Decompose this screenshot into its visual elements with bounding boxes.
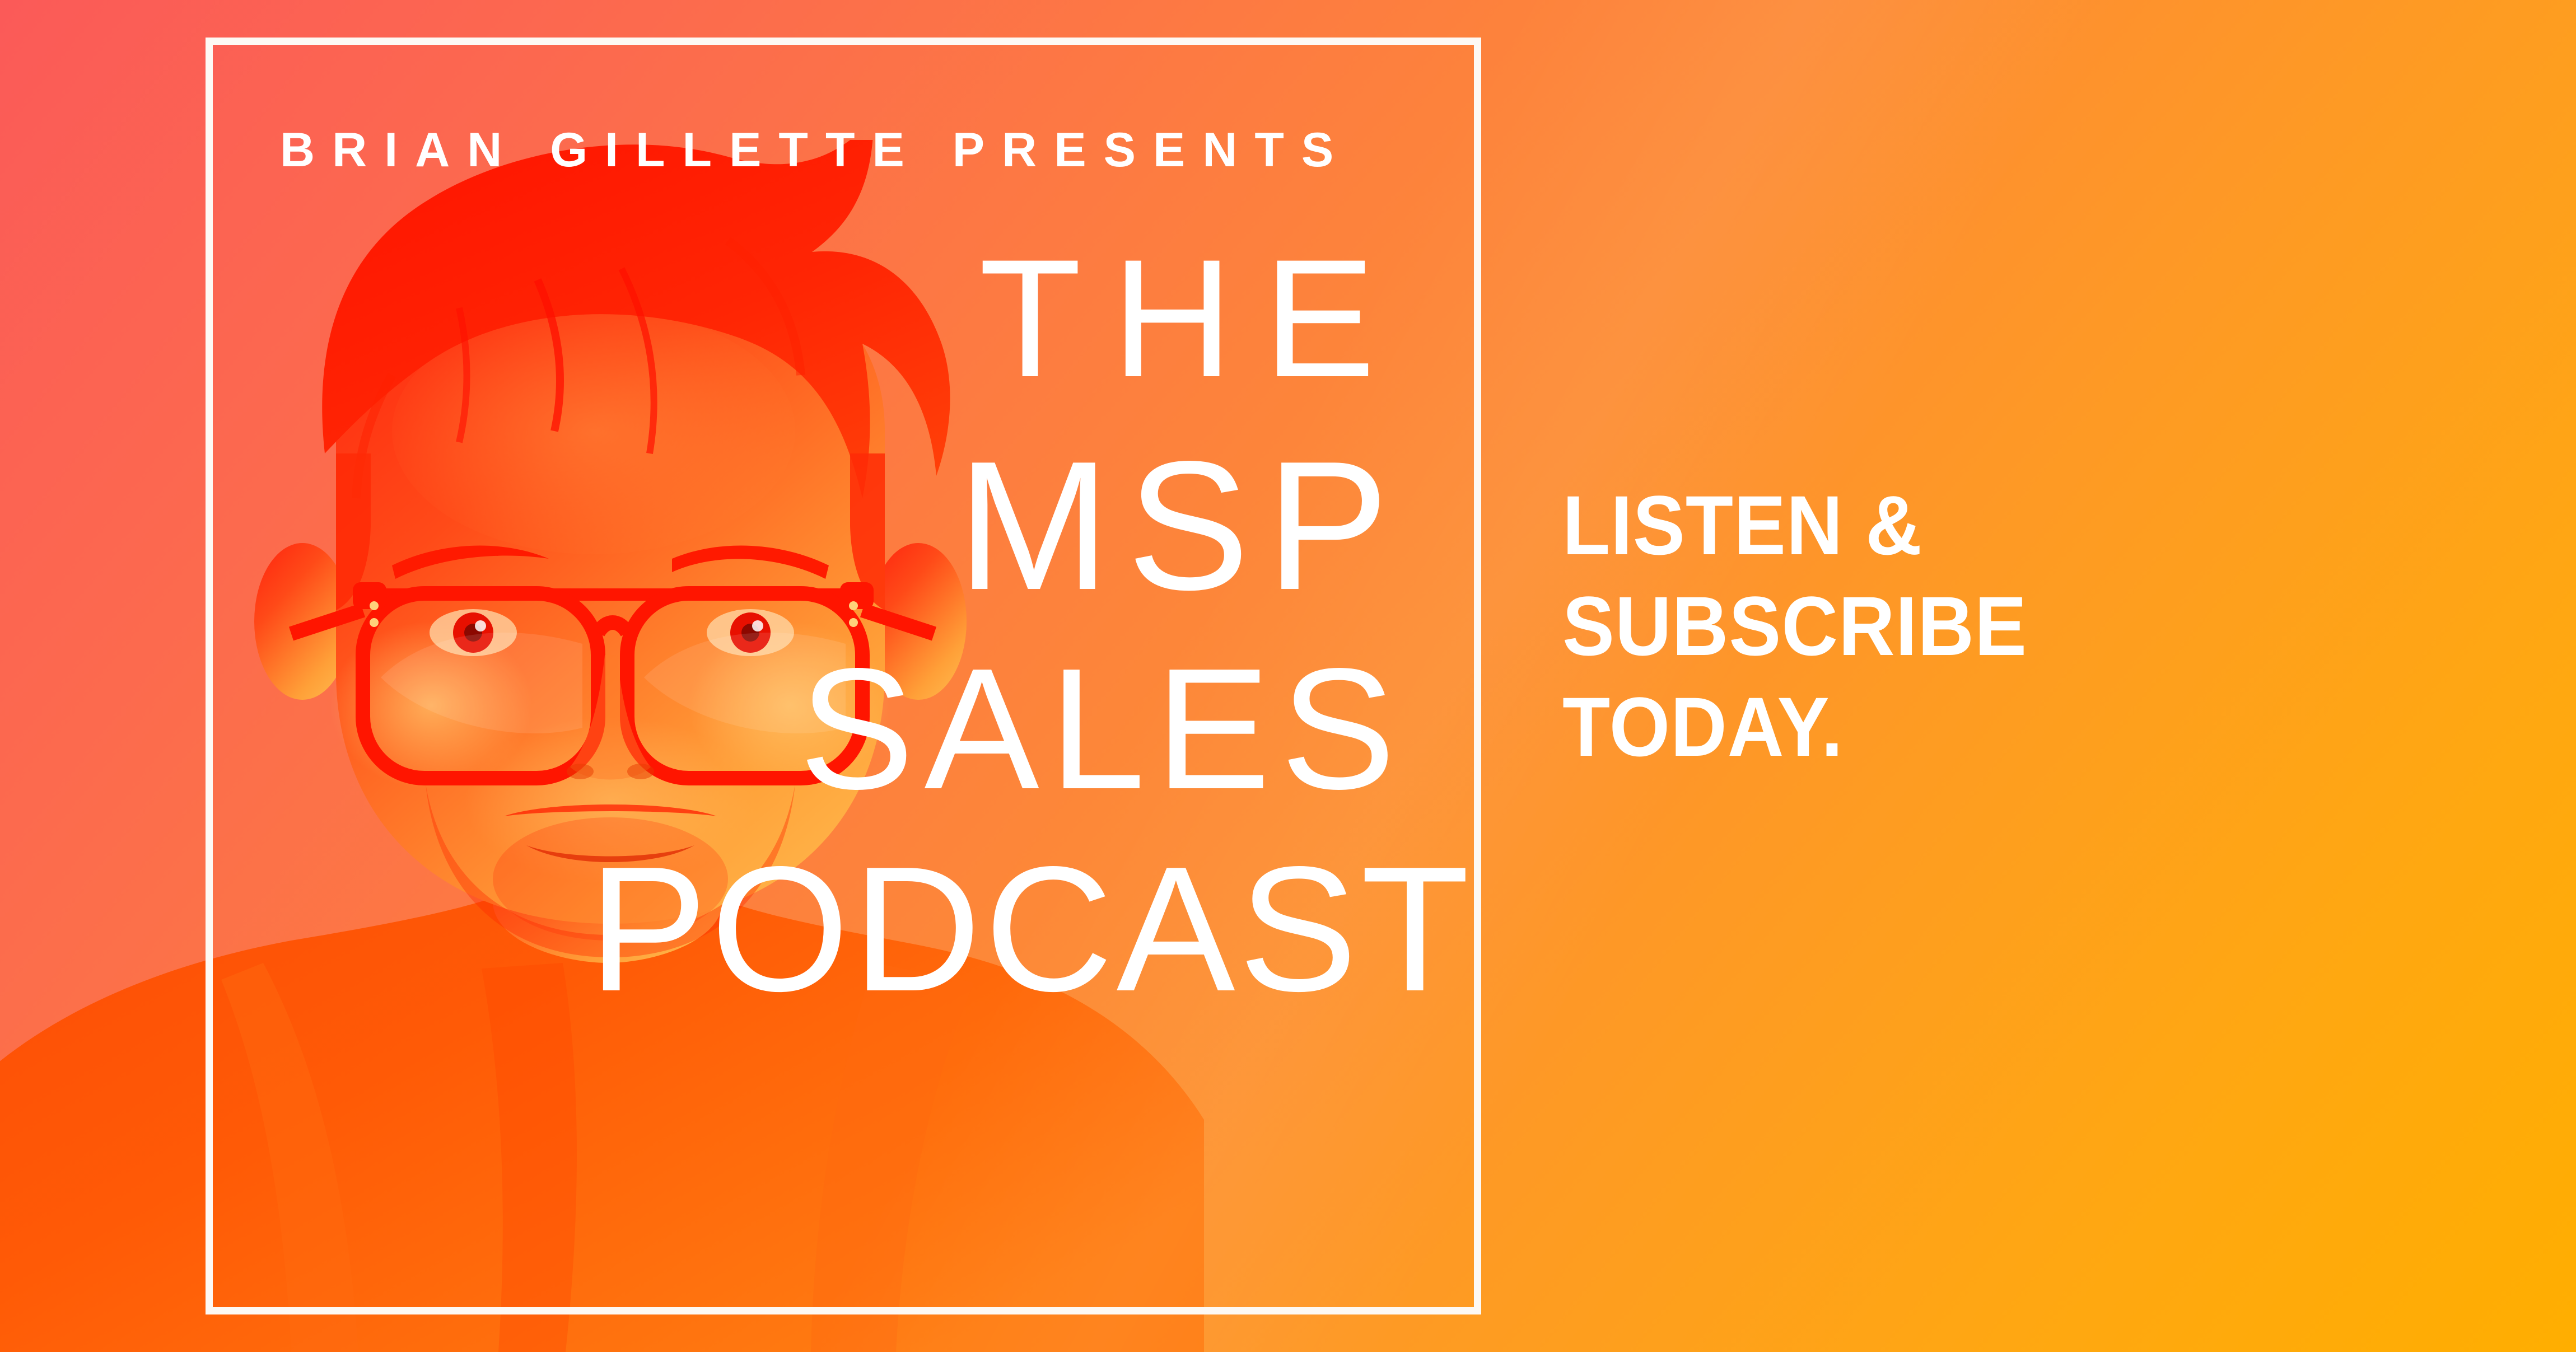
cta-line-today: TODAY.: [1562, 676, 2344, 777]
title-line-sales: SALES: [392, 644, 1406, 815]
presenter-kicker: BRIAN GILLETTE PRESENTS: [280, 126, 1434, 174]
listen-subscribe-callout: LISTEN & SUBSCRIBE TODAY.: [1562, 475, 2344, 777]
cta-line-subscribe: SUBSCRIBE: [1562, 576, 2344, 676]
podcast-promo-poster: BRIAN GILLETTE PRESENTS THE MSP SALES PO…: [0, 0, 2576, 1352]
title-line-podcast: PODCAST: [392, 841, 1473, 1018]
title-line-msp: MSP: [392, 435, 1406, 617]
title-line-the: THE: [392, 235, 1406, 401]
podcast-title: THE MSP SALES PODCAST: [392, 235, 1406, 1017]
cta-line-listen: LISTEN &: [1562, 475, 2344, 576]
